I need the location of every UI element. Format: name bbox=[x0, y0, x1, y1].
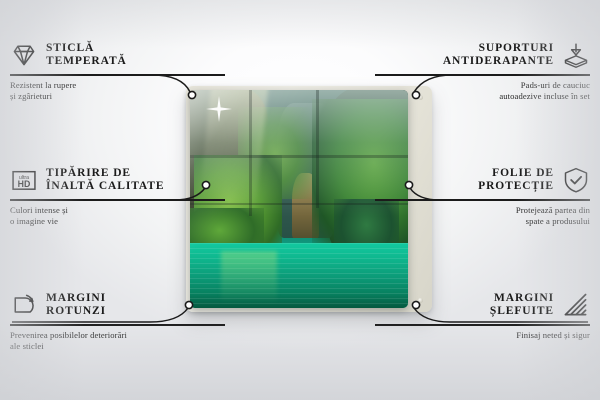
feature-margini-slefuite: MARGINI ȘLEFUITE Finisaj neted și sigur bbox=[375, 288, 590, 341]
svg-text:HD: HD bbox=[18, 179, 31, 189]
divider bbox=[375, 324, 590, 326]
feature-suporturi-antiderapante: SUPORTURI ANTIDERAPANTE Pads-uri de cauc… bbox=[375, 38, 590, 102]
rounded-corner-icon bbox=[10, 291, 38, 319]
feature-description: Culori intense și o imagine vie bbox=[10, 205, 225, 227]
feature-description: Pads-uri de cauciuc autoadezive incluse … bbox=[375, 80, 590, 102]
feature-tiparire-inalta-calitate: ultra HD TIPĂRIRE DE ÎNALTĂ CALITATE Cul… bbox=[10, 163, 225, 227]
feature-description: Finisaj neted și sigur bbox=[375, 330, 590, 341]
ultra-hd-icon: ultra HD bbox=[10, 166, 38, 194]
press-pad-icon bbox=[562, 41, 590, 69]
feature-description: Rezistent la rupere și zgârieturi bbox=[10, 80, 225, 102]
feature-description: Prevenirea posibilelor deteriorări ale s… bbox=[10, 330, 225, 352]
diamond-icon bbox=[10, 41, 38, 69]
hatch-lines-icon bbox=[562, 291, 590, 319]
feature-title: STICLĂ TEMPERATĂ bbox=[46, 42, 127, 68]
feature-title: MARGINI ȘLEFUITE bbox=[490, 292, 554, 318]
divider bbox=[375, 199, 590, 201]
divider bbox=[10, 74, 225, 76]
feature-title: MARGINI ROTUNZI bbox=[46, 292, 106, 318]
feature-description: Protejează partea din spate a produsului bbox=[375, 205, 590, 227]
divider bbox=[10, 324, 225, 326]
infographic-canvas: STICLĂ TEMPERATĂ Rezistent la rupere și … bbox=[0, 0, 600, 400]
feature-title: TIPĂRIRE DE ÎNALTĂ CALITATE bbox=[46, 167, 164, 193]
divider bbox=[10, 199, 225, 201]
shield-check-icon bbox=[562, 166, 590, 194]
feature-margini-rotunzi: MARGINI ROTUNZI Prevenirea posibilelor d… bbox=[10, 288, 225, 352]
divider bbox=[375, 74, 590, 76]
feature-folie-de-protectie: FOLIE DE PROTECȚIE Protejează partea din… bbox=[375, 163, 590, 227]
feature-sticla-temperata: STICLĂ TEMPERATĂ Rezistent la rupere și … bbox=[10, 38, 225, 102]
feature-title: SUPORTURI ANTIDERAPANTE bbox=[443, 42, 554, 68]
feature-title: FOLIE DE PROTECȚIE bbox=[478, 167, 554, 193]
